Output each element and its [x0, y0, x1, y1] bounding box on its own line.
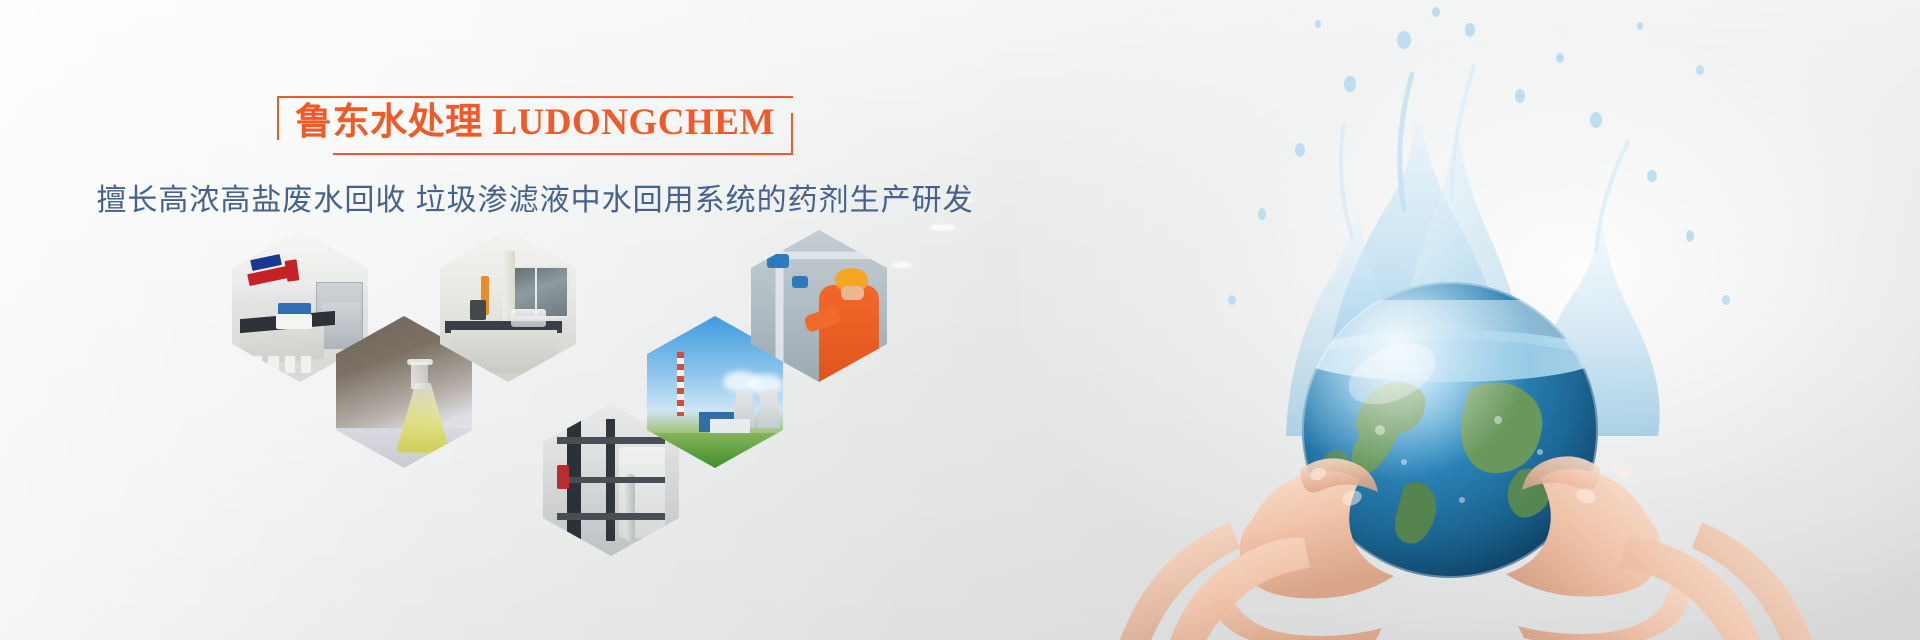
hero-banner: 鲁东水处理 LUDONGCHEM 擅长高浓高盐废水回收 垃圾渗滤液中水回用系统的… [0, 0, 1920, 640]
banner-subtitle: 擅长高浓高盐废水回收 垃圾渗滤液中水回用系统的药剂生产研发 [0, 175, 1070, 219]
water-globe-artwork [1000, 0, 1920, 640]
frame-line-top [485, 96, 793, 98]
frame-line-bottom [333, 153, 645, 155]
hexagon-photo-cluster [232, 216, 952, 526]
banner-text-block: 鲁东水处理 LUDONGCHEM 擅长高浓高盐废水回收 垃圾渗滤液中水回用系统的… [0, 96, 1070, 219]
bubble-speck [1470, 198, 1480, 202]
brand-title-frame: 鲁东水处理 LUDONGCHEM [277, 96, 793, 155]
background-glow [1020, 0, 1920, 640]
brand-title: 鲁东水处理 LUDONGCHEM [295, 102, 775, 145]
